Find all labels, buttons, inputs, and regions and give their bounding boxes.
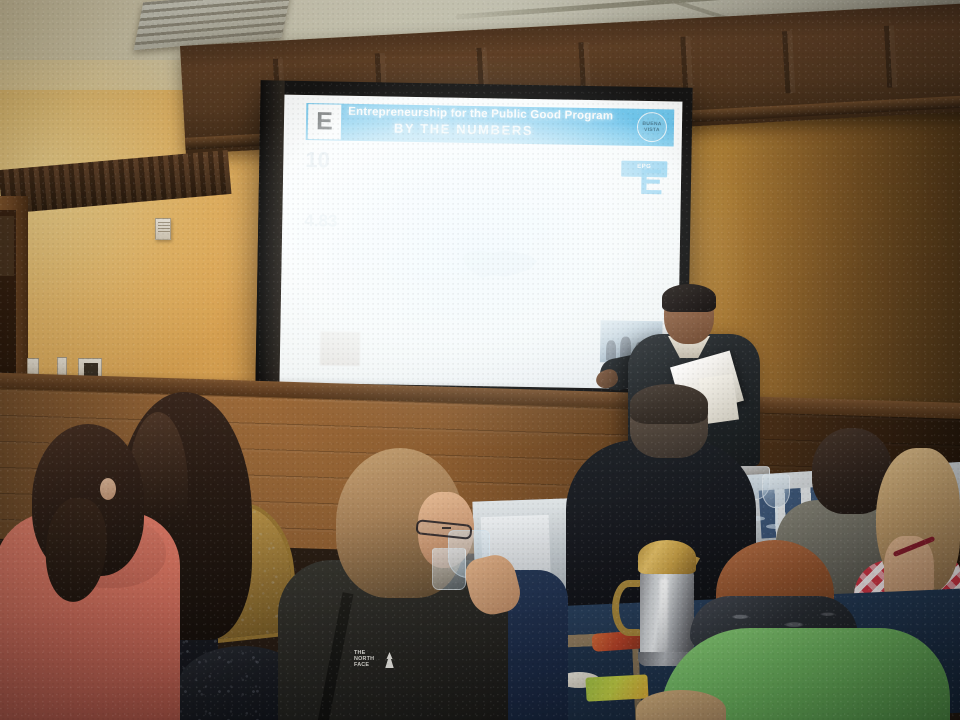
thermostat-icon[interactable] [155,218,171,240]
photo-scene: E Entrepreneurship for the Public Good P… [0,0,960,720]
epg-logo-letter: E [316,109,333,134]
slide-header-bar: E Entrepreneurship for the Public Good P… [306,103,675,146]
us-map-outline-icon [461,246,540,283]
man-hair [630,384,708,424]
thermostat-vents [158,222,170,232]
door-glass [0,216,14,276]
water-glass [432,548,466,590]
university-seal-icon: BUENA VISTA [637,112,668,143]
north-face-logo: THE NORTH FACE [354,650,398,676]
north-face-dome-icon [382,652,397,668]
carafe-lid [638,540,696,574]
food-packet [585,674,648,701]
slide-stat-value: 10 [305,147,330,173]
epg-logo-badge: E [308,104,342,140]
av-port-icon [84,363,98,376]
projection-screen: E Entrepreneurship for the Public Good P… [255,80,692,397]
glass-bowl [762,474,790,508]
slide-chip-label: EPG [621,164,667,171]
glass-stem [775,506,778,526]
slide-faded-thumbnail [320,331,361,366]
slide-stat-value: 4.83 [304,211,337,232]
eyeglasses-bridge [442,527,451,529]
slide-chip-badge: EPG [621,161,667,178]
brand-line-3: FACE [354,662,383,668]
ear [100,478,116,500]
seal-line-2: VISTA [644,127,660,133]
slide-subtitle: BY THE NUMBERS [394,121,634,140]
presenter-hair [662,284,716,312]
brand-text: THE NORTH FACE [354,650,383,669]
carafe-highlight [660,578,668,652]
screen-surface: E Entrepreneurship for the Public Good P… [279,95,682,390]
slide-title: Entrepreneurship for the Public Good Pro… [348,106,638,123]
